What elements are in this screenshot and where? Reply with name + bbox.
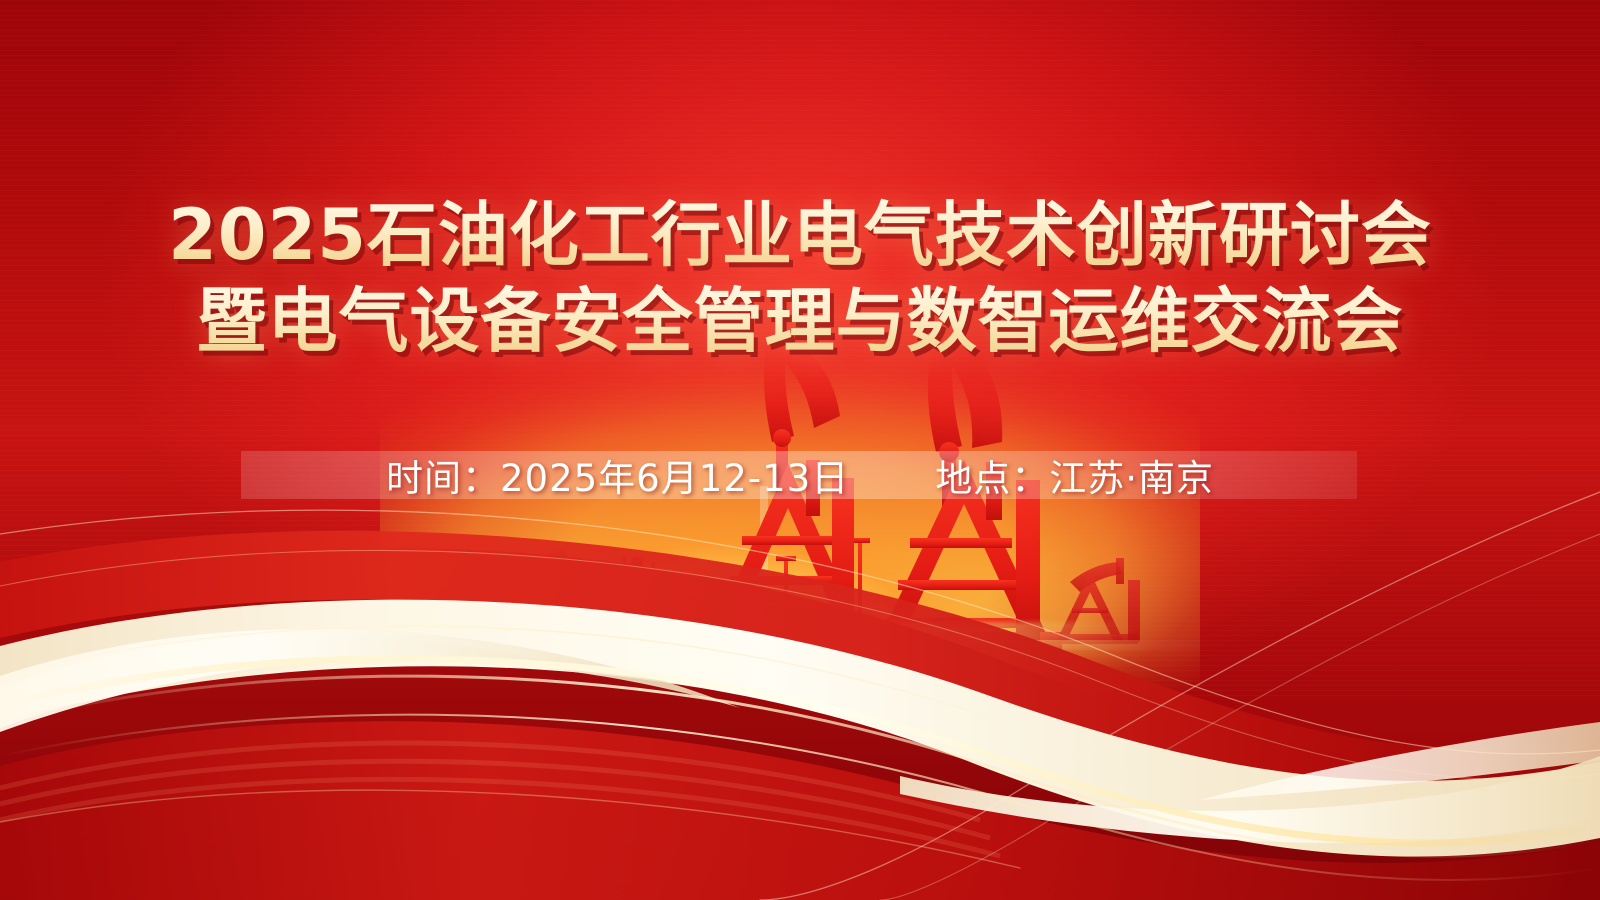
event-date: 时间：2025年6月12-13日 (386, 448, 849, 502)
conference-banner: 2025石油化工行业电气技术创新研讨会 暨电气设备安全管理与数智运维交流会 时间… (0, 0, 1600, 900)
banner-title: 2025石油化工行业电气技术创新研讨会 暨电气设备安全管理与数智运维交流会 (0, 192, 1600, 364)
event-location: 地点：江苏·南京 (935, 448, 1214, 502)
title-line-1: 2025石油化工行业电气技术创新研讨会 (0, 192, 1600, 278)
title-line-2: 暨电气设备安全管理与数智运维交流会 (0, 278, 1600, 364)
event-info-text: 时间：2025年6月12-13日 地点：江苏·南京 (0, 427, 1600, 523)
ribbon-waves-graphic (0, 470, 1600, 900)
